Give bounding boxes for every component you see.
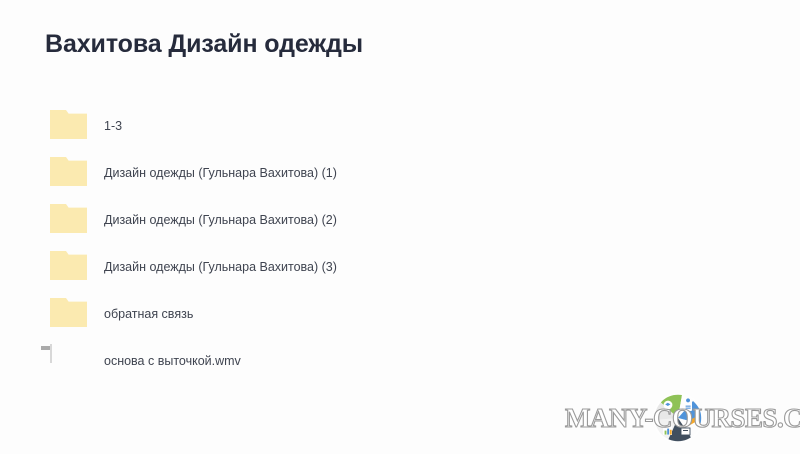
video-thumbnail-icon: [50, 345, 87, 374]
list-item[interactable]: Дизайн одежды (Гульнара Вахитова) (1): [0, 151, 800, 198]
list-item[interactable]: Дизайн одежды (Гульнара Вахитова) (2): [0, 198, 800, 245]
file-list: 1-3 Дизайн одежды (Гульнара Вахитова) (1…: [0, 104, 800, 386]
file-listing-page: Вахитова Дизайн одежды 1-3 Дизайн одежды…: [0, 0, 800, 454]
list-item-label: основа с выточкой.wmv: [104, 353, 241, 369]
list-item[interactable]: 1-3: [0, 104, 800, 151]
list-item-label: Дизайн одежды (Гульнара Вахитова) (2): [104, 212, 337, 228]
list-item-label: обратная связь: [104, 306, 193, 322]
list-item[interactable]: Дизайн одежды (Гульнара Вахитова) (3): [0, 245, 800, 292]
folder-icon: [50, 157, 87, 186]
list-item-label: Дизайн одежды (Гульнара Вахитова) (1): [104, 165, 337, 181]
list-item-label: Дизайн одежды (Гульнара Вахитова) (3): [104, 259, 337, 275]
folder-icon: [50, 110, 87, 139]
watermark: MANY-COURSES.COM: [565, 392, 797, 444]
list-item[interactable]: обратная связь: [0, 292, 800, 339]
folder-icon: [50, 251, 87, 280]
page-title: Вахитова Дизайн одежды: [45, 29, 363, 59]
list-item[interactable]: основа с выточкой.wmv: [0, 339, 800, 386]
folder-icon: [50, 298, 87, 327]
folder-icon: [50, 204, 87, 233]
list-item-label: 1-3: [104, 118, 122, 134]
watermark-text: MANY-COURSES.COM: [565, 403, 797, 433]
